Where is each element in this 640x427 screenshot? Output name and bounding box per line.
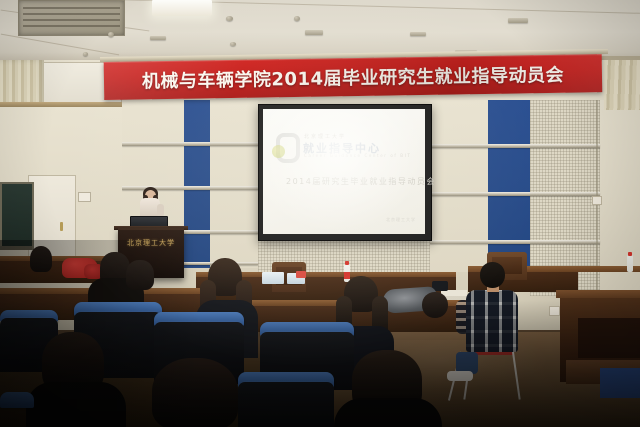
slide-title-english: Career Guidance Center of BIT	[304, 153, 411, 158]
slide-footer: 北京理工大学	[386, 217, 416, 223]
red-item-on-desk	[296, 271, 306, 278]
ceiling-speaker-icon	[108, 32, 114, 37]
water-bottle-cap	[345, 261, 349, 265]
plaid-man-head	[480, 262, 505, 288]
window-curtain	[604, 58, 640, 110]
wall-panel-blue	[184, 100, 210, 268]
ceiling-speaker-icon	[230, 42, 236, 46]
tissue-box[interactable]	[262, 272, 284, 284]
audience-head-foreground	[152, 358, 238, 427]
wall-panel	[430, 100, 488, 272]
chalk-tray	[0, 246, 32, 250]
event-banner-text: 机械与车辆学院2014届毕业研究生就业指导动员会	[142, 61, 564, 94]
air-conditioner-vent	[18, 0, 125, 36]
audience-head	[30, 246, 52, 272]
ceiling-light	[152, 0, 212, 16]
audience-shoulders-foreground	[26, 382, 126, 427]
audience-shoulders-foreground	[334, 398, 442, 427]
chalkboard	[0, 182, 34, 250]
window-curtain	[0, 60, 44, 106]
power-outlet[interactable]	[549, 306, 560, 316]
slide-organization-line: 北京理工大学	[304, 133, 346, 140]
plaid-man-shoe	[447, 371, 473, 381]
door-handle[interactable]	[60, 222, 63, 231]
ceiling-speaker-icon	[83, 52, 88, 56]
wall-metal-strip	[122, 186, 258, 190]
wall-metal-strip	[430, 144, 600, 148]
wall-metal-strip	[430, 192, 600, 196]
ceiling-fixture	[410, 32, 426, 36]
lecture-hall-photo: 机械与车辆学院2014届毕业研究生就业指导动员会 北京理工大学 就业指导中心 C…	[0, 0, 640, 427]
water-bottle-cap	[628, 252, 632, 256]
career-center-logo-icon	[272, 133, 298, 159]
wall-metal-strip	[430, 240, 600, 244]
wall-panel	[210, 100, 258, 268]
side-desk-blue-panel	[600, 368, 640, 398]
ceiling-fixture	[305, 30, 323, 35]
projection-screen-surface	[263, 109, 425, 234]
side-cabinet-panel	[578, 318, 640, 358]
audience-head	[126, 260, 154, 290]
podium-institution-text: 北京理工大学	[125, 238, 177, 248]
power-outlet[interactable]	[592, 196, 602, 205]
curtain-rail	[598, 56, 640, 60]
water-bottle-label	[344, 272, 350, 279]
light-switch[interactable]	[78, 192, 91, 202]
water-bottle[interactable]	[627, 255, 633, 272]
chair-back	[238, 382, 334, 427]
slide-subtitle: 2014届研究生毕业就业指导动员会	[286, 176, 436, 187]
smoke-detector-icon	[294, 16, 300, 21]
wall-metal-strip	[122, 142, 258, 146]
plaid-shirt-man	[466, 290, 518, 352]
ceiling-speaker-icon	[226, 16, 233, 21]
chair-trim	[0, 392, 34, 408]
event-banner: 机械与车辆学院2014届毕业研究生就业指导动员会	[104, 54, 603, 100]
ceiling-fixture	[508, 18, 528, 23]
side-cabinet-top	[556, 290, 640, 298]
audience-head	[422, 292, 448, 318]
ceiling-fixture	[150, 36, 166, 40]
